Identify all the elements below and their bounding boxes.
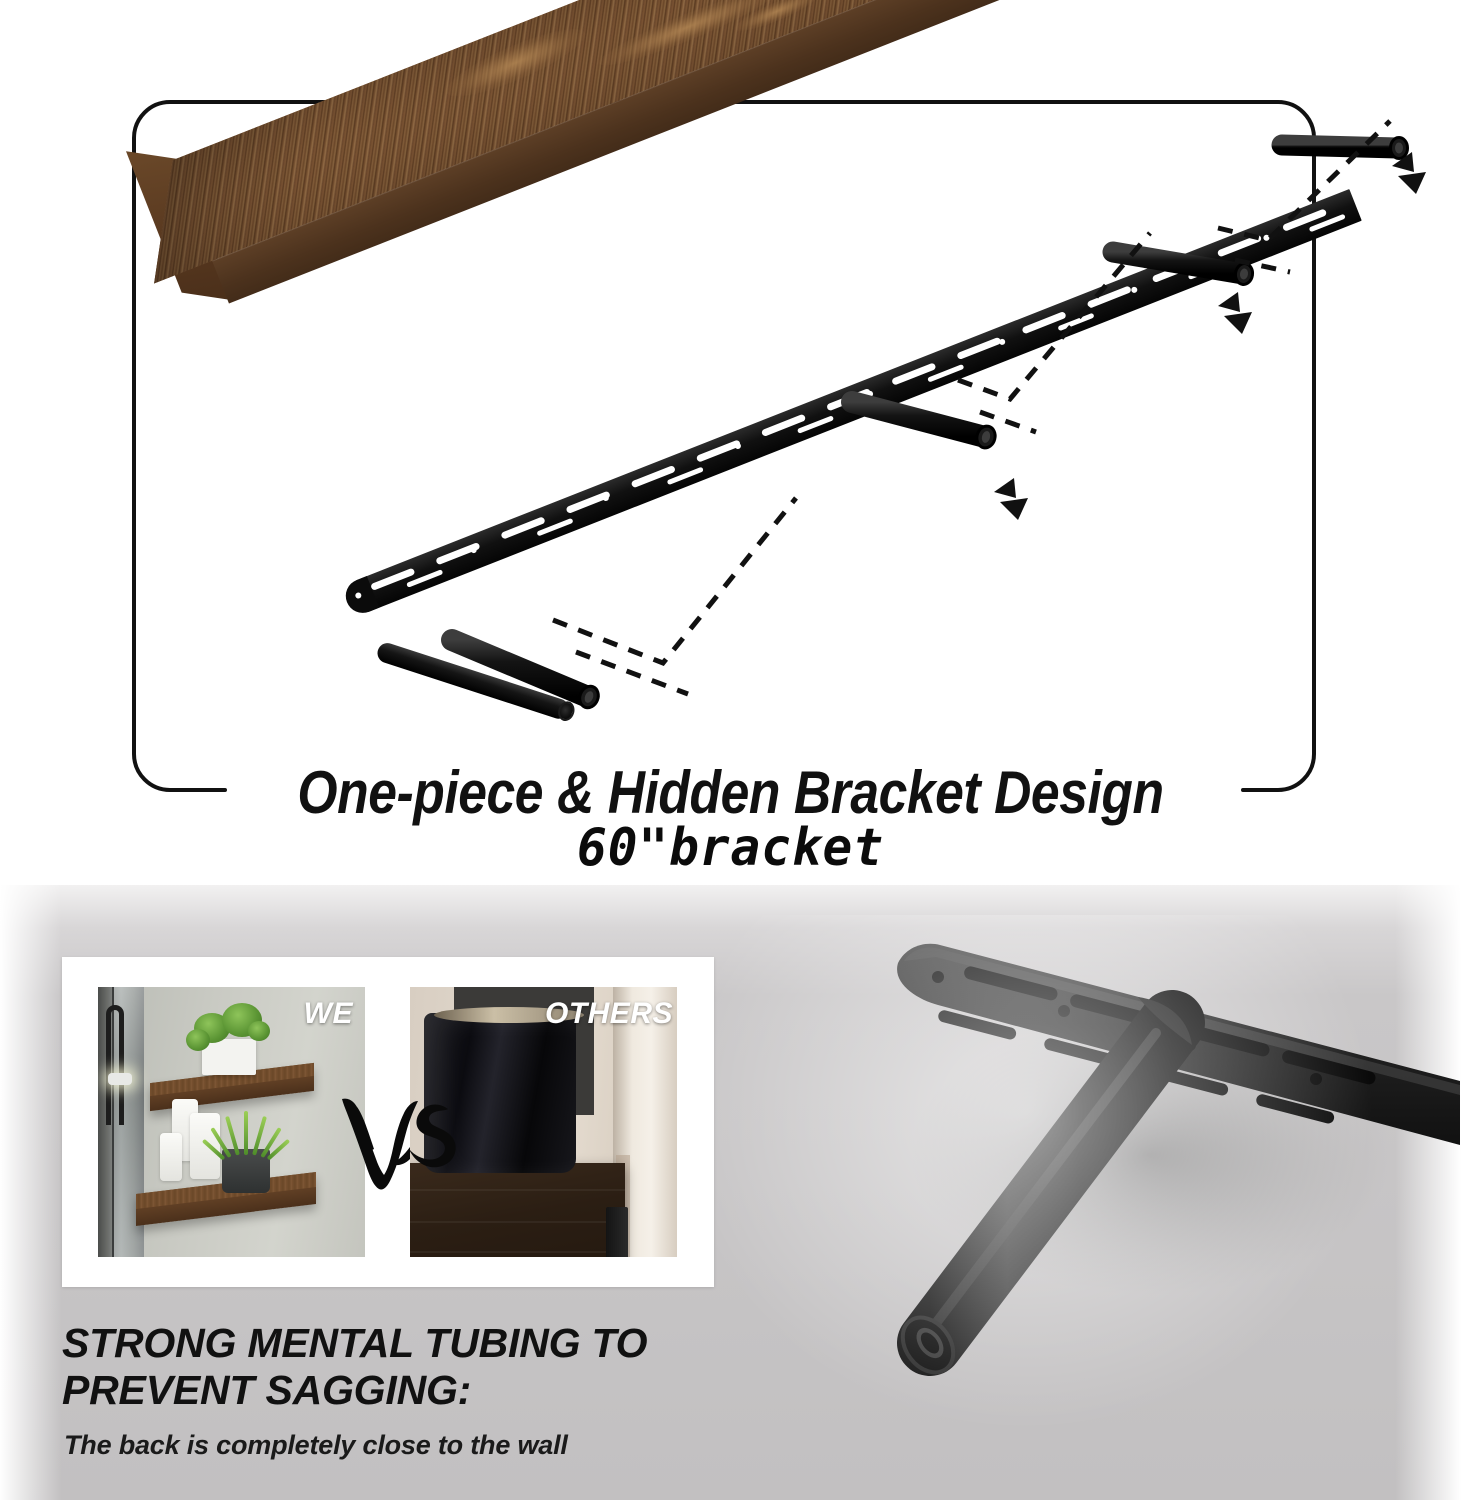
bottom-heading-line-1: STRONG MENTAL TUBING TO bbox=[62, 1320, 702, 1367]
support-tube-1 bbox=[375, 640, 571, 721]
bottom-feature-panel: WE OTHERS bbox=[0, 885, 1461, 1500]
hidden-bracket-rail bbox=[330, 60, 1460, 740]
bottom-subtext: The back is completely close to the wall bbox=[64, 1430, 764, 1461]
bracket-mounting-plate bbox=[354, 189, 1362, 613]
bottom-heading: STRONG MENTAL TUBING TO PREVENT SAGGING: bbox=[62, 1320, 702, 1413]
white-planter bbox=[202, 1039, 256, 1075]
vs-brush-mark bbox=[330, 1087, 460, 1197]
page-title: One-piece & Hidden Bracket Design bbox=[102, 758, 1358, 827]
label-we: WE bbox=[304, 997, 353, 1031]
comparison-card: WE OTHERS bbox=[62, 957, 714, 1287]
page-subtitle: 60"bracket bbox=[37, 818, 1425, 878]
bottom-heading-line-2: PREVENT SAGGING: bbox=[62, 1367, 702, 1414]
exposed-bracket bbox=[606, 1207, 628, 1257]
comparison-photo-we: WE bbox=[98, 987, 365, 1257]
top-product-panel: One-piece & Hidden Bracket Design 60"bra… bbox=[0, 0, 1461, 885]
label-others: OTHERS bbox=[545, 997, 673, 1031]
bracket-closeup-illustration bbox=[820, 905, 1460, 1425]
